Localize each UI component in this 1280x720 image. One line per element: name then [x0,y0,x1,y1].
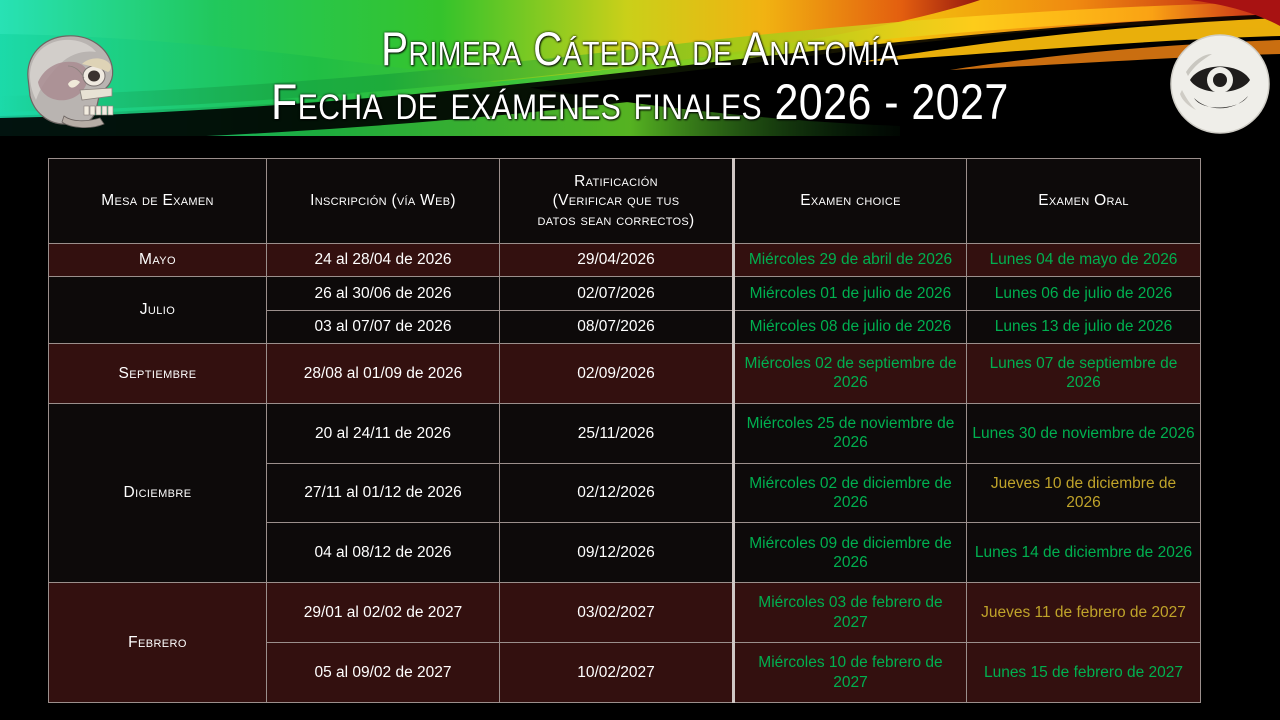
examen-choice-cell: Miércoles 02 de diciembre de 2026 [734,463,967,523]
ratificacion-cell: 02/09/2026 [500,343,734,403]
inscripcion-cell: 28/08 al 01/09 de 2026 [267,343,500,403]
month-cell: Febrero [49,583,267,703]
inscripcion-cell: 04 al 08/12 de 2026 [267,523,500,583]
column-header-examen-oral: Examen Oral [967,159,1201,244]
ratificacion-cell: 02/07/2026 [500,277,734,310]
ratificacion-cell: 09/12/2026 [500,523,734,583]
exam-schedule-table: Mesa de Examen Inscripción (vía Web) Rat… [48,158,1201,703]
table-row: Diciembre20 al 24/11 de 202625/11/2026Mi… [49,403,1201,463]
examen-oral-cell: Lunes 04 de mayo de 2026 [967,244,1201,277]
exam-schedule-table-container: Mesa de Examen Inscripción (vía Web) Rat… [48,158,1200,703]
eye-circle-logo-icon [1168,32,1272,136]
inscripcion-cell: 20 al 24/11 de 2026 [267,403,500,463]
table-row: Julio26 al 30/06 de 202602/07/2026Miérco… [49,277,1201,310]
examen-choice-cell: Miércoles 01 de julio de 2026 [734,277,967,310]
column-header-inscripcion: Inscripción (vía Web) [267,159,500,244]
ratificacion-cell: 25/11/2026 [500,403,734,463]
month-cell: Julio [49,277,267,344]
column-header-examen-choice: Examen choice [734,159,967,244]
examen-oral-cell: Lunes 07 de septiembre de 2026 [967,343,1201,403]
examen-choice-cell: Miércoles 10 de febrero de 2027 [734,643,967,703]
header-banner: Primera Cátedra de Anatomía Fecha de exá… [0,0,1280,152]
column-header-label: Inscripción (vía Web) [310,192,456,209]
examen-oral-cell: Lunes 13 de julio de 2026 [967,310,1201,343]
examen-choice-cell: Miércoles 29 de abril de 2026 [734,244,967,277]
table-body: Mayo24 al 28/04 de 202629/04/2026Miércol… [49,244,1201,703]
table-header: Mesa de Examen Inscripción (vía Web) Rat… [49,159,1201,244]
examen-choice-cell: Miércoles 03 de febrero de 2027 [734,583,967,643]
inscripcion-cell: 27/11 al 01/12 de 2026 [267,463,500,523]
column-header-label: Examen choice [800,192,900,209]
examen-oral-cell: Jueves 10 de diciembre de 2026 [967,463,1201,523]
examen-choice-cell: Miércoles 08 de julio de 2026 [734,310,967,343]
month-cell: Diciembre [49,403,267,582]
column-header-label-line-3: datos sean correctos) [505,211,727,230]
ratificacion-cell: 10/02/2027 [500,643,734,703]
table-row: Febrero29/01 al 02/02 de 202703/02/2027M… [49,583,1201,643]
inscripcion-cell: 24 al 28/04 de 2026 [267,244,500,277]
skull-icon [8,20,126,138]
inscripcion-cell: 03 al 07/07 de 2026 [267,310,500,343]
examen-oral-cell: Lunes 06 de julio de 2026 [967,277,1201,310]
month-cell: Mayo [49,244,267,277]
examen-oral-cell: Lunes 14 de diciembre de 2026 [967,523,1201,583]
table-row: Mayo24 al 28/04 de 202629/04/2026Miércol… [49,244,1201,277]
ratificacion-cell: 29/04/2026 [500,244,734,277]
inscripcion-cell: 26 al 30/06 de 2026 [267,277,500,310]
column-header-mesa-de-examen: Mesa de Examen [49,159,267,244]
column-header-ratificacion: Ratificación (Verificar que tus datos se… [500,159,734,244]
ratificacion-cell: 08/07/2026 [500,310,734,343]
table-row: Septiembre28/08 al 01/09 de 202602/09/20… [49,343,1201,403]
examen-oral-cell: Jueves 11 de febrero de 2027 [967,583,1201,643]
inscripcion-cell: 29/01 al 02/02 de 2027 [267,583,500,643]
examen-choice-cell: Miércoles 02 de septiembre de 2026 [734,343,967,403]
examen-oral-cell: Lunes 30 de noviembre de 2026 [967,403,1201,463]
examen-oral-cell: Lunes 15 de febrero de 2027 [967,643,1201,703]
column-header-label-line-2: (Verificar que tus [505,191,727,210]
banner-ribbon-graphic [0,0,1280,152]
table-header-row: Mesa de Examen Inscripción (vía Web) Rat… [49,159,1201,244]
column-header-label: Examen Oral [1038,192,1129,209]
column-header-label: Mesa de Examen [101,192,213,209]
month-cell: Septiembre [49,343,267,403]
examen-choice-cell: Miércoles 25 de noviembre de 2026 [734,403,967,463]
slide-root: Primera Cátedra de Anatomía Fecha de exá… [0,0,1280,720]
examen-choice-cell: Miércoles 09 de diciembre de 2026 [734,523,967,583]
inscripcion-cell: 05 al 09/02 de 2027 [267,643,500,703]
ratificacion-cell: 02/12/2026 [500,463,734,523]
column-header-label-line-1: Ratificación [505,172,727,191]
ratificacion-cell: 03/02/2027 [500,583,734,643]
